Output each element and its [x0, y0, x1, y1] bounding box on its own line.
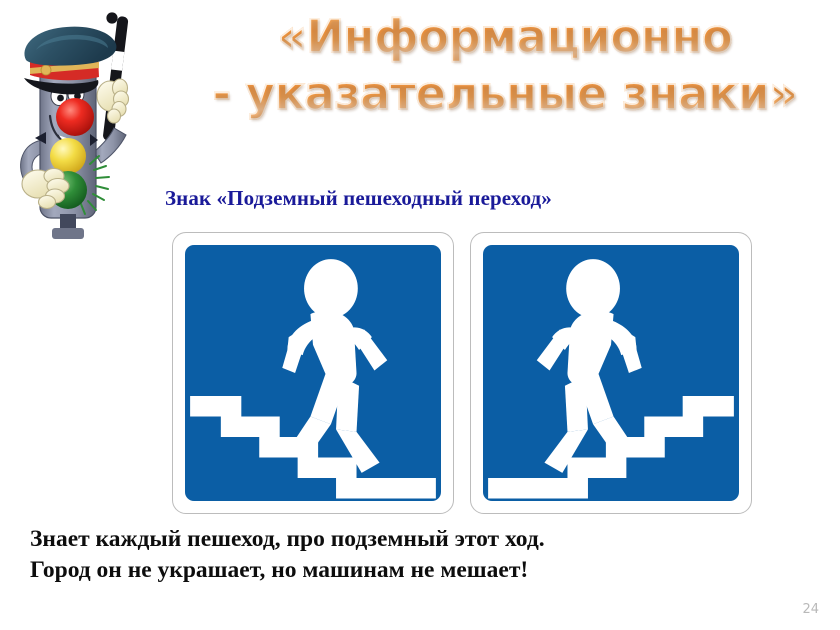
sign-underground-pedestrian-crossing-left — [470, 232, 752, 514]
red-light — [56, 98, 94, 136]
slide-title: «Информационно - указательные знаки» — [175, 8, 835, 122]
sign-underground-pedestrian-crossing-right — [172, 232, 454, 514]
road-signs-row — [172, 232, 752, 514]
title-line-1: «Информационно — [175, 8, 835, 65]
traffic-light-policeman-mascot — [2, 4, 162, 242]
rhyme-text: Знает каждый пешеход, про подземный этот… — [30, 524, 545, 586]
glove-upper — [97, 79, 129, 123]
sign-face-blue — [185, 245, 441, 501]
page-number: 24 — [802, 602, 819, 617]
title-line-2: - указательные знаки» — [175, 65, 835, 122]
rhyme-line-1: Знает каждый пешеход, про подземный этот… — [30, 524, 545, 555]
sign-name-heading: Знак «Подземный пешеходный переход» — [165, 186, 552, 211]
rhyme-line-2: Город он не украшает, но машинам не меша… — [30, 555, 545, 586]
sign-face-blue — [483, 245, 739, 501]
